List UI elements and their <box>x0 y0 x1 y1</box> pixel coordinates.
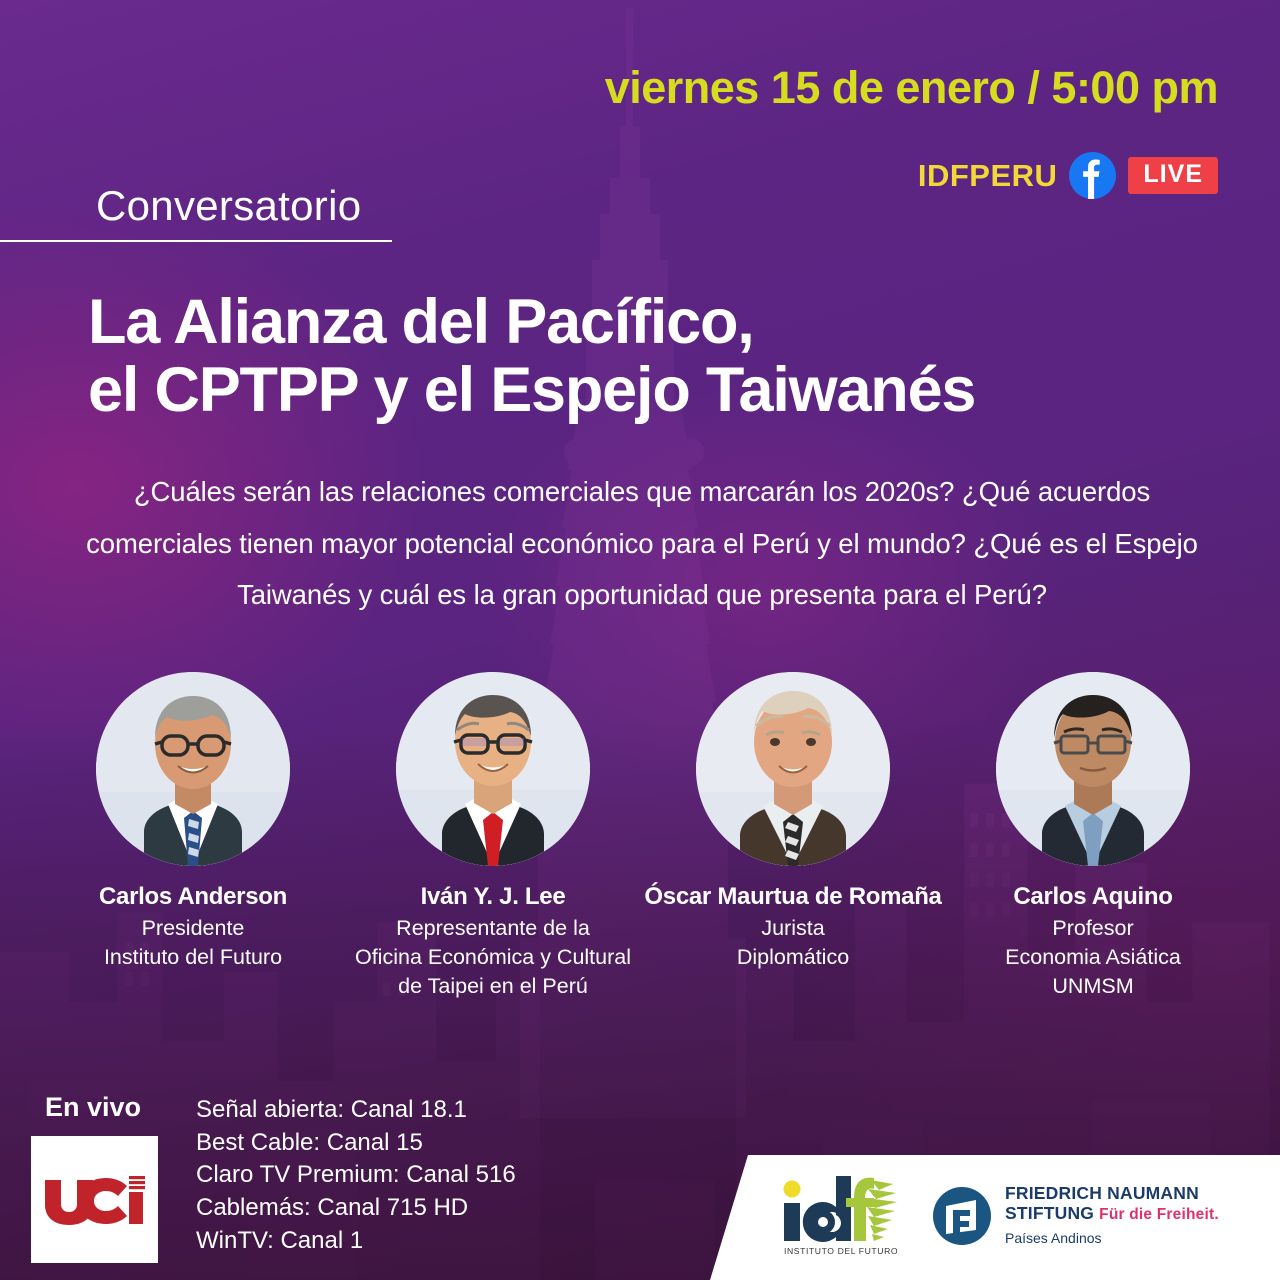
speakers-row: Carlos Anderson Presidente Instituto del… <box>48 672 1238 1000</box>
idf-tagline: INSTITUTO DEL FUTURO <box>784 1246 898 1256</box>
eyebrow-label: Conversatorio <box>0 182 392 230</box>
speaker-name: Carlos Anderson <box>99 883 287 911</box>
avatar <box>96 672 290 866</box>
list-item: Claro TV Premium: Canal 516 <box>196 1159 516 1192</box>
speaker-name: Óscar Maurtua de Romaña <box>644 883 941 911</box>
eyebrow-divider <box>0 240 392 242</box>
avatar <box>396 672 590 866</box>
list-item: Cablemás: Canal 715 HD <box>196 1192 516 1225</box>
event-description: ¿Cuáles serán las relaciones comerciales… <box>76 466 1208 621</box>
speaker-role: Profesor Economia Asiática UNMSM <box>1005 914 1181 1000</box>
fns-line-2: STIFTUNG <box>1005 1203 1094 1223</box>
speaker-name: Carlos Aquino <box>1013 883 1172 911</box>
poster-canvas: viernes 15 de enero / 5:00 pm IDFPERU LI… <box>0 0 1280 1280</box>
speaker-card: Iván Y. J. Lee Representante de la Ofici… <box>348 672 638 1000</box>
speaker-role: Representante de la Oficina Económica y … <box>355 914 631 1000</box>
speaker-name: Iván Y. J. Lee <box>421 883 566 911</box>
speaker-card: Carlos Aquino Profesor Economia Asiática… <box>948 672 1238 1000</box>
en-vivo-label: En vivo <box>45 1092 141 1123</box>
title-line-1: La Alianza del Pacífico, <box>88 287 754 357</box>
fns-line-1: FRIEDRICH NAUMANN <box>1005 1183 1199 1203</box>
sponsor-footer-bar: INSTITUTO DEL FUTURO FRIEDRICH NAUMANN S… <box>710 1155 1280 1280</box>
list-item: WinTV: Canal 1 <box>196 1225 516 1258</box>
list-item: Best Cable: Canal 15 <box>196 1127 516 1160</box>
live-badge: LIVE <box>1128 157 1218 194</box>
fns-region: Países Andinos <box>1005 1231 1219 1247</box>
fns-logo: FRIEDRICH NAUMANN STIFTUNG Für die Freih… <box>932 1184 1219 1251</box>
live-broadcast-row: IDFPERU LIVE <box>918 152 1218 199</box>
avatar <box>696 672 890 866</box>
facebook-icon[interactable] <box>1069 152 1116 199</box>
fns-wordmark: FRIEDRICH NAUMANN STIFTUNG Für die Freih… <box>1005 1184 1219 1246</box>
uci-logo <box>31 1136 158 1263</box>
page-title: La Alianza del Pacífico, el CPTPP y el E… <box>88 288 1218 424</box>
event-datetime: viernes 15 de enero / 5:00 pm <box>605 62 1218 114</box>
speaker-role: Presidente Instituto del Futuro <box>104 914 282 972</box>
speaker-card: Óscar Maurtua de Romaña Jurista Diplomát… <box>648 672 938 972</box>
fns-slogan: Für die Freiheit. <box>1099 1206 1219 1223</box>
idf-dot <box>784 1181 801 1198</box>
list-item: Señal abierta: Canal 18.1 <box>196 1094 516 1127</box>
idf-logo: INSTITUTO DEL FUTURO <box>776 1172 902 1263</box>
speaker-card: Carlos Anderson Presidente Instituto del… <box>48 672 338 972</box>
fns-mark-icon <box>932 1186 992 1251</box>
channel-list: Señal abierta: Canal 18.1 Best Cable: Ca… <box>196 1094 516 1257</box>
title-line-2: el CPTPP y el Espejo Taiwanés <box>88 356 1218 424</box>
avatar <box>996 672 1190 866</box>
speaker-role: Jurista Diplomático <box>737 914 849 972</box>
facebook-handle: IDFPERU <box>918 158 1058 194</box>
eyebrow-block: Conversatorio <box>0 182 392 242</box>
